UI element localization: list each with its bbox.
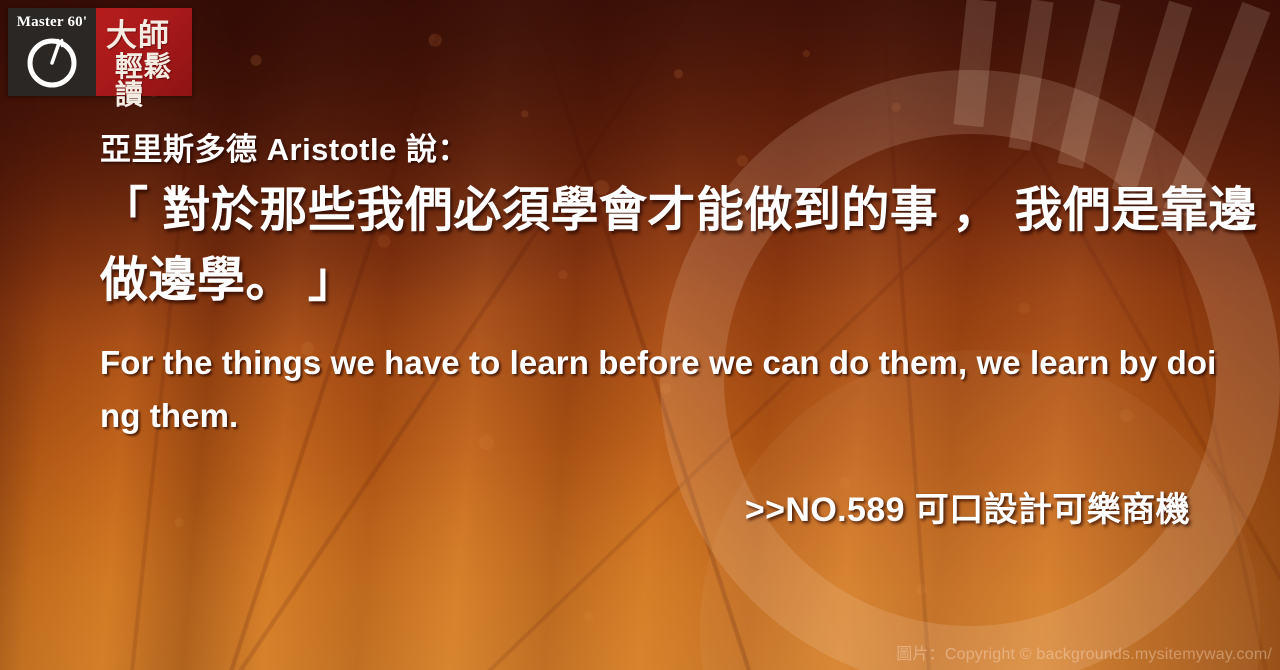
quote-chinese-line: 「 對於那些我們必須學會才能做到的事 ， 我們是靠邊 — [100, 176, 1270, 246]
quote-content: 亞里斯多德 Aristotle 說： 「 對於那些我們必須學會才能做到的事 ， … — [0, 0, 1280, 670]
quote-card: Master 60' 大師 輕鬆讀 亞里斯多德 Aristotle 說： 「 對… — [0, 0, 1280, 670]
quote-english-line: For the things we have to learn before w… — [100, 336, 1225, 389]
image-credit: 圖片：Copyright © backgrounds.mysitemyway.c… — [896, 640, 1272, 664]
quote-english: For the things we have to learn before w… — [100, 336, 1225, 443]
quote-chinese-line: 做邊學。 」 — [100, 246, 1270, 316]
quote-chinese: 「 對於那些我們必須學會才能做到的事 ， 我們是靠邊 做邊學。 」 — [100, 176, 1270, 315]
issue-reference-link[interactable]: >>NO.589 可口設計可樂商機 — [745, 482, 1190, 531]
quote-attribution: 亞里斯多德 Aristotle 說： — [100, 124, 469, 169]
quote-english-line: ng them. — [100, 389, 1225, 442]
